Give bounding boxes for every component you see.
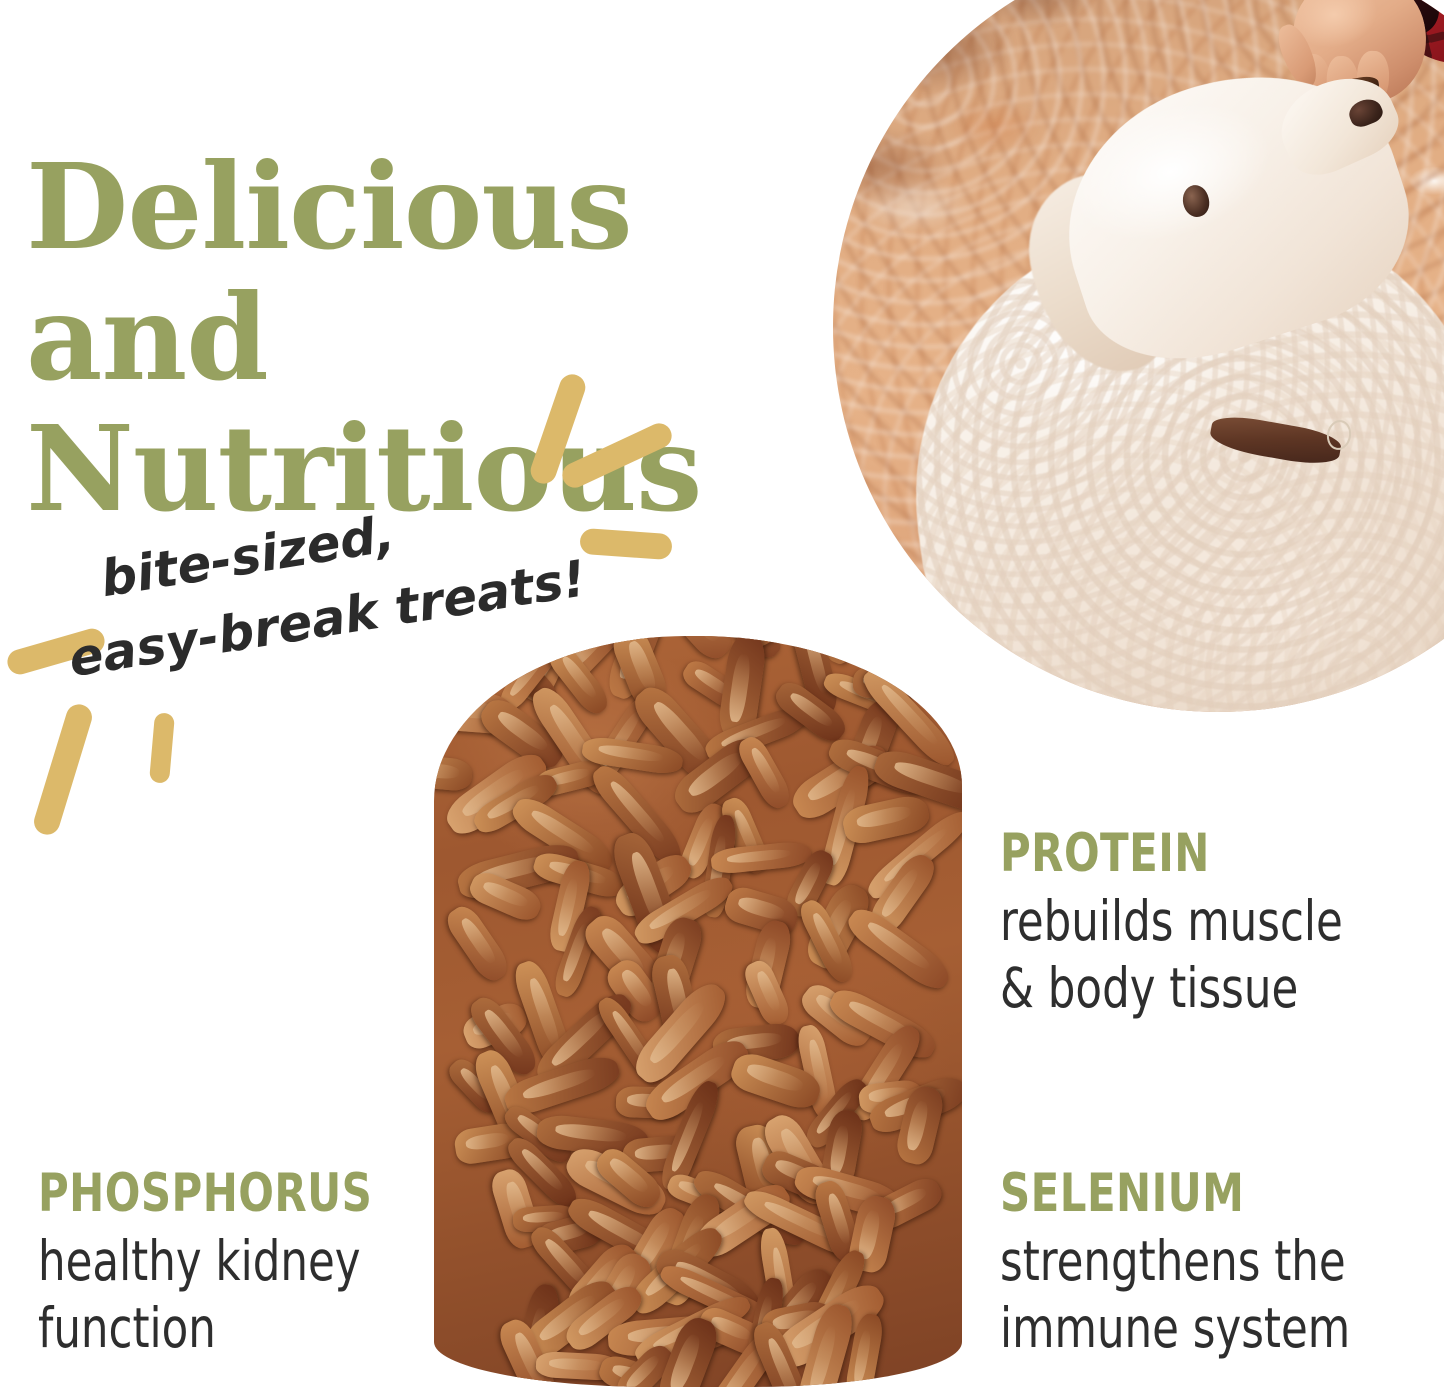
benefit-protein-title: PROTEIN <box>1000 826 1414 882</box>
sparkle-stroke-lower-left-2 <box>31 701 95 838</box>
benefit-protein-description: rebuilds muscle & body tissue <box>1000 888 1414 1022</box>
treat-pile-image <box>434 636 962 1387</box>
treat-pile-mass <box>434 636 962 1387</box>
treat-stick <box>442 900 514 985</box>
benefit-phosphorus: PHOSPHORUS healthy kidney function <box>38 1166 468 1362</box>
benefit-phosphorus-description: healthy kidney function <box>38 1228 416 1362</box>
treat-stick <box>434 754 474 792</box>
benefit-phosphorus-title: PHOSPHORUS <box>38 1166 416 1222</box>
benefit-selenium-title: SELENIUM <box>1000 1166 1414 1222</box>
benefit-protein: PROTEIN rebuilds muscle & body tissue <box>1000 826 1444 1022</box>
dog-being-fed-treat-photo <box>833 0 1444 712</box>
benefit-selenium: SELENIUM strengthens the immune system <box>1000 1166 1444 1362</box>
benefit-selenium-description: strengthens the immune system <box>1000 1228 1414 1362</box>
infographic-canvas: Delicious and Nutritious bite-sized, eas… <box>0 0 1444 1387</box>
